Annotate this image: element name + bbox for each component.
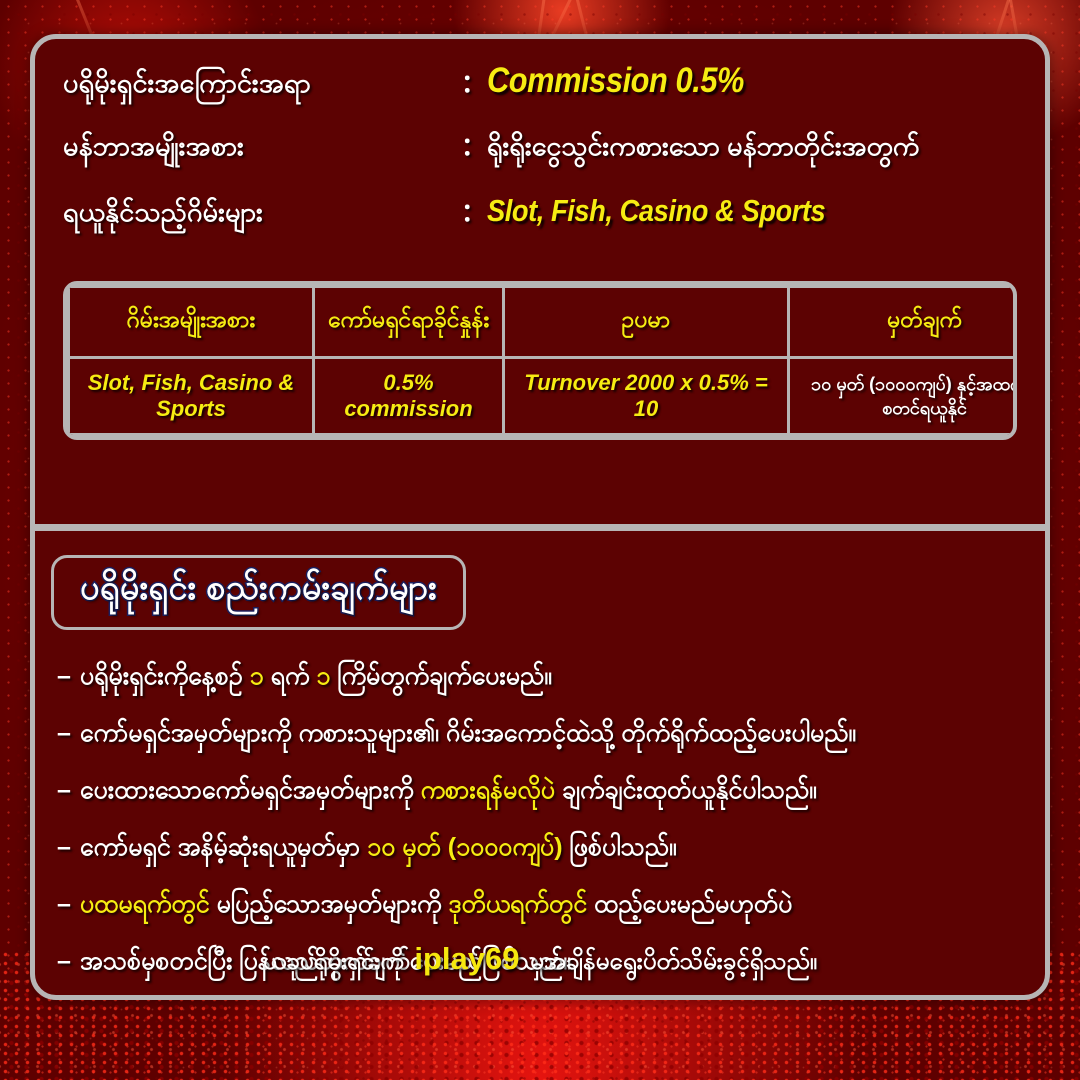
info-row-topic: ပရိုမိုးရှင်းအကြောင်းအရာ ： Commission 0.…	[35, 61, 1045, 127]
promotion-info-block: ပရိုမိုးရှင်းအကြောင်းအရာ ： Commission 0.…	[35, 39, 1045, 259]
terms-list: –ပရိုမိုးရှင်းကိုနေ့စဉ် ၁ ရက် ၁ ကြိမ်တွက…	[35, 648, 1045, 990]
terms-text-highlight: ဒုတိယရက်တွင်	[448, 890, 587, 918]
terms-text-normal: ဖြစ်ပါသည်။	[563, 833, 677, 861]
info-value-eligible-games: Slot, Fish, Casino & Sports	[487, 193, 825, 229]
terms-list-item: –ပေးထားသောကော်မရှင်အမှတ်များကို ကစားရန်မ…	[57, 762, 1023, 819]
table-header-remark: မှတ်ချက်	[789, 287, 1018, 358]
table-cell-remark-line2: စတင်ရယူနိုင်	[796, 396, 1017, 420]
table-header-game-type: ဂိမ်းအမျိုးအစား	[69, 287, 314, 358]
terms-text-highlight: ၁၀ မှတ် (၁၀၀၀ကျပ်)	[367, 833, 562, 861]
info-value-member-type: ရိုးရိုးငွေသွင်းကစားသော မန်ဘာတိုင်းအတွက်	[487, 129, 919, 169]
terms-list-item-text: ပထမရက်တွင် မပြည့်သောအမှတ်များကို ဒုတိယရက…	[80, 892, 792, 917]
list-bullet-dash-icon: –	[57, 892, 71, 917]
terms-section-title-label: ပရိုမိုးရှင်း စည်းကမ်းချက်များ	[80, 569, 437, 607]
terms-text-normal: ပရိုမိုးရှင်းကိုနေ့စဉ်	[80, 662, 250, 690]
terms-text-highlight: ၁	[316, 662, 330, 690]
terms-list-item: –ကော်မရှင် အနိမ့်ဆုံးရယူမှတ်မှာ ၁၀ မှတ် …	[57, 819, 1023, 876]
footer-note: ယခုပရိုမိုးရှင်းကို iplay69 မှအချိန်မရွေ…	[35, 941, 1045, 981]
table-cell-remark-line1: ၁၀ မှတ် (၁၀၀၀ကျပ်) နှင့်အထက်မှ	[796, 372, 1017, 396]
terms-text-normal: ကြိမ်တွက်ချက်ပေးမည်။	[330, 662, 551, 690]
terms-list-item: –ပထမရက်တွင် မပြည့်သောအမှတ်များကို ဒုတိယရ…	[57, 876, 1023, 933]
list-bullet-dash-icon: –	[57, 664, 71, 689]
commission-table-wrapper: ဂိမ်းအမျိုးအစား ကော်မရှင်ရာခိုင်နှုန်း ဥ…	[63, 281, 1017, 440]
terms-list-item-text: ကော်မရှင်အမှတ်များကို ကစားသူများ၏၊ ဂိမ်း…	[80, 721, 856, 746]
info-colon: ：	[461, 193, 487, 229]
info-row-eligible-games: ရယူနိုင်သည့်ဂိမ်းများ ： Slot, Fish, Casi…	[35, 193, 1045, 259]
terms-text-normal: ကော်မရှင်အမှတ်များကို ကစားသူများ၏၊ ဂိမ်း…	[80, 719, 856, 747]
info-colon: ：	[461, 64, 487, 100]
footer-brand: iplay69	[410, 941, 523, 976]
table-header-example: ဥပမာ	[504, 287, 789, 358]
terms-text-normal: ရက်	[264, 662, 317, 690]
terms-text-normal: ထည့်ပေးမည်မဟုတ်ပဲ	[587, 890, 792, 918]
table-cell-game-type: Slot, Fish, Casino & Sports	[69, 358, 314, 435]
footer-suffix: မှအချိန်မရွေးပိတ်သိမ်းခွင့်ရှိသည်။	[524, 948, 818, 975]
terms-text-normal: ကော်မရှင် အနိမ့်ဆုံးရယူမှတ်မှာ	[80, 833, 367, 861]
terms-text-highlight: ကစားရန်မလိုပဲ	[421, 776, 555, 804]
list-bullet-dash-icon: –	[57, 721, 71, 746]
table-header-commission-rate: ကော်မရှင်ရာခိုင်နှုန်း	[314, 287, 504, 358]
list-bullet-dash-icon: –	[57, 778, 71, 803]
terms-list-item-text: ပေးထားသောကော်မရှင်အမှတ်များကို ကစားရန်မလ…	[80, 778, 817, 803]
info-value-topic: Commission 0.5%	[487, 61, 744, 101]
list-bullet-dash-icon: –	[57, 835, 71, 860]
section-divider	[35, 524, 1045, 531]
info-label-topic: ပရိုမိုးရှင်းအကြောင်းအရာ	[63, 66, 461, 106]
table-header-row: ဂိမ်းအမျိုးအစား ကော်မရှင်ရာခိုင်နှုန်း ဥ…	[69, 287, 1018, 358]
commission-table: ဂိမ်းအမျိုးအစား ကော်မရှင်ရာခိုင်နှုန်း ဥ…	[67, 285, 1017, 436]
terms-text-normal: မပြည့်သောအမှတ်များကို	[210, 890, 449, 918]
terms-list-item-text: ကော်မရှင် အနိမ့်ဆုံးရယူမှတ်မှာ ၁၀ မှတ် (…	[80, 835, 677, 860]
info-colon: ：	[461, 127, 487, 163]
terms-text-normal: ပေးထားသောကော်မရှင်အမှတ်များကို	[80, 776, 421, 804]
terms-section-title: ပရိုမိုးရှင်း စည်းကမ်းချက်များ	[51, 555, 466, 630]
terms-list-item: –ပရိုမိုးရှင်းကိုနေ့စဉ် ၁ ရက် ၁ ကြိမ်တွက…	[57, 648, 1023, 705]
terms-text-highlight: ၁	[250, 662, 264, 690]
terms-list-item: –ကော်မရှင်အမှတ်များကို ကစားသူများ၏၊ ဂိမ်…	[57, 705, 1023, 762]
table-cell-example: Turnover 2000 x 0.5% = 10	[504, 358, 789, 435]
promotion-panel: ပရိုမိုးရှင်းအကြောင်းအရာ ： Commission 0.…	[30, 34, 1050, 1000]
info-label-member-type: မန်ဘာအမျိုးအစား	[63, 129, 461, 169]
terms-list-item-text: ပရိုမိုးရှင်းကိုနေ့စဉ် ၁ ရက် ၁ ကြိမ်တွက်…	[80, 664, 552, 689]
terms-text-normal: ချက်ချင်းထုတ်ယူနိုင်ပါသည်။	[555, 776, 817, 804]
terms-text-highlight: ပထမရက်တွင်	[80, 890, 210, 918]
footer-prefix: ယခုပရိုမိုးရှင်းကို	[263, 948, 410, 975]
table-cell-remark: ၁၀ မှတ် (၁၀၀၀ကျပ်) နှင့်အထက်မှ စတင်ရယူနိ…	[789, 358, 1018, 435]
table-cell-commission-rate: 0.5% commission	[314, 358, 504, 435]
table-row: Slot, Fish, Casino & Sports 0.5% commiss…	[69, 358, 1018, 435]
info-label-eligible-games: ရယူနိုင်သည့်ဂိမ်းများ	[63, 195, 461, 235]
info-row-member-type: မန်ဘာအမျိုးအစား ： ရိုးရိုးငွေသွင်းကစားသေ…	[35, 127, 1045, 193]
